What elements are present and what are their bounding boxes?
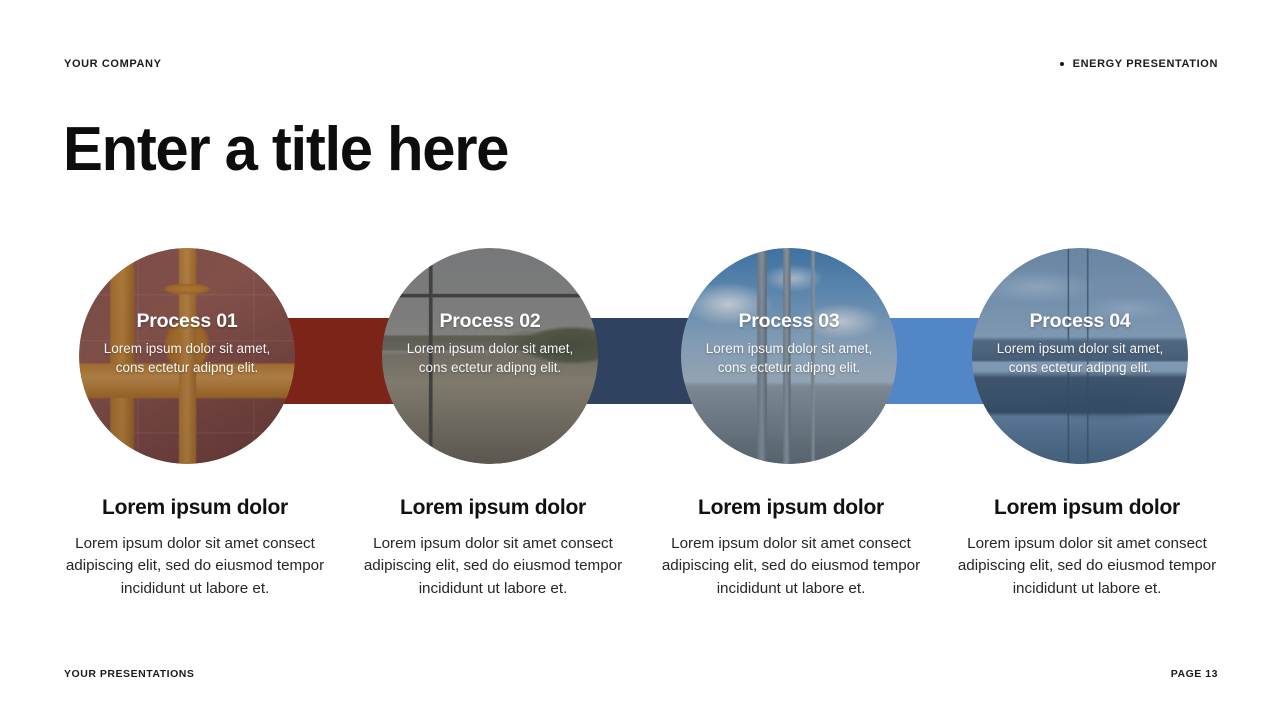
process-circle-text-1: Process 01 Lorem ipsum dolor sit amet, c… <box>79 310 295 377</box>
process-step-label-3: Process 03 <box>691 310 887 333</box>
process-step-label-2: Process 02 <box>392 310 588 333</box>
process-circle-text-3: Process 03 Lorem ipsum dolor sit amet, c… <box>681 310 897 377</box>
caption-body-3: Lorem ipsum dolor sit amet consect adipi… <box>650 533 932 600</box>
process-circle-text-4: Process 04 Lorem ipsum dolor sit amet, c… <box>972 310 1188 377</box>
process-step-label-4: Process 04 <box>982 310 1178 333</box>
header-company-label: YOUR COMPANY <box>64 58 162 70</box>
caption-block-3: Lorem ipsum dolor Lorem ipsum dolor sit … <box>644 496 938 600</box>
process-circle-1[interactable]: Process 01 Lorem ipsum dolor sit amet, c… <box>79 248 295 464</box>
process-circle-2[interactable]: Process 02 Lorem ipsum dolor sit amet, c… <box>382 248 598 464</box>
caption-body-1: Lorem ipsum dolor sit amet consect adipi… <box>54 533 336 600</box>
caption-block-4: Lorem ipsum dolor Lorem ipsum dolor sit … <box>940 496 1234 600</box>
process-step-desc-4: Lorem ipsum dolor sit amet, cons ectetur… <box>982 339 1178 377</box>
process-step-label-1: Process 01 <box>89 310 285 333</box>
process-circle-text-2: Process 02 Lorem ipsum dolor sit amet, c… <box>382 310 598 377</box>
caption-body-4: Lorem ipsum dolor sit amet consect adipi… <box>946 533 1228 600</box>
bullet-dot-icon <box>1060 62 1064 66</box>
process-circle-3[interactable]: Process 03 Lorem ipsum dolor sit amet, c… <box>681 248 897 464</box>
process-step-desc-1: Lorem ipsum dolor sit amet, cons ectetur… <box>89 339 285 377</box>
caption-row: Lorem ipsum dolor Lorem ipsum dolor sit … <box>0 496 1280 600</box>
process-circle-4[interactable]: Process 04 Lorem ipsum dolor sit amet, c… <box>972 248 1188 464</box>
footer-page-number: PAGE 13 <box>1171 668 1218 680</box>
page-title: Enter a title here <box>63 118 508 182</box>
caption-title-4: Lorem ipsum dolor <box>946 496 1228 520</box>
footer-left-label: YOUR PRESENTATIONS <box>64 668 194 680</box>
caption-block-1: Lorem ipsum dolor Lorem ipsum dolor sit … <box>48 496 342 600</box>
header-category: ENERGY PRESENTATION <box>1060 58 1218 70</box>
caption-title-1: Lorem ipsum dolor <box>54 496 336 520</box>
process-diagram: Process 01 Lorem ipsum dolor sit amet, c… <box>0 248 1280 470</box>
header-category-label: ENERGY PRESENTATION <box>1073 58 1218 70</box>
caption-body-2: Lorem ipsum dolor sit amet consect adipi… <box>352 533 634 600</box>
process-step-desc-2: Lorem ipsum dolor sit amet, cons ectetur… <box>392 339 588 377</box>
caption-title-2: Lorem ipsum dolor <box>352 496 634 520</box>
caption-block-2: Lorem ipsum dolor Lorem ipsum dolor sit … <box>346 496 640 600</box>
process-step-desc-3: Lorem ipsum dolor sit amet, cons ectetur… <box>691 339 887 377</box>
caption-title-3: Lorem ipsum dolor <box>650 496 932 520</box>
slide: YOUR COMPANY ENERGY PRESENTATION Enter a… <box>0 0 1280 720</box>
